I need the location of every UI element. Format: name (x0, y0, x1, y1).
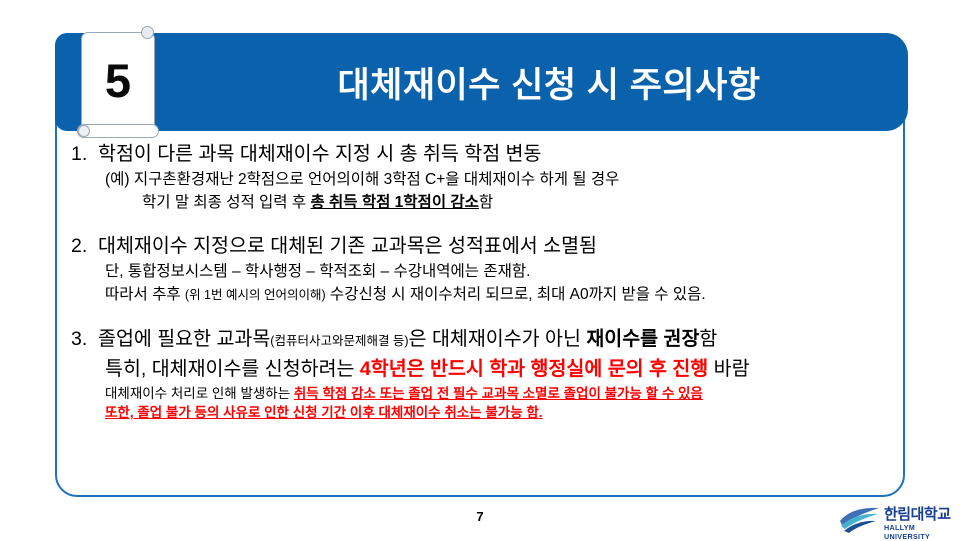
logo-text-block: 한림대학교 HALLYM UNIVERSITY (884, 507, 954, 541)
item-3-warning-2: 또한, 졸업 불가 등의 사유로 인한 신청 기간 이후 대체재이수 취소는 불… (64, 403, 904, 422)
item-3-title: 졸업에 필요한 교과목(컴퓨터사고와문제해결 등)은 대체재이수가 아닌 재이수… (98, 325, 717, 355)
item-1-heading: 1. 학점이 다른 과목 대체재이수 지정 시 총 취득 학점 변동 (64, 140, 904, 168)
spacer-2 (64, 309, 904, 325)
item-3-line-2-suffix: 바람 (708, 358, 749, 380)
item-3-warning-1-prefix: 대체재이수 처리로 인해 발생하는 (105, 386, 294, 401)
page-number: 7 (0, 509, 960, 524)
item-3-title-note: (컴퓨터사고와문제해결 등) (270, 334, 408, 348)
section-number: 5 (81, 32, 155, 128)
item-3-number: 3. (64, 328, 98, 351)
item-3-warning-2-text: 또한, 졸업 불가 등의 사유로 인한 신청 기간 이후 대체재이수 취소는 불… (105, 405, 543, 420)
item-3-title-part-2: 은 대체재이수가 아닌 (409, 328, 587, 350)
item-3-title-emphasis: 재이수를 권장 (586, 328, 699, 350)
list-item: 3. 졸업에 필요한 교과목(컴퓨터사고와문제해결 등)은 대체재이수가 아닌 … (64, 325, 904, 422)
item-2-detail-2-prefix: 따라서 추후 (105, 286, 185, 303)
item-2-heading: 2. 대체재이수 지정으로 대체된 기존 교과목은 성적표에서 소멸됨 (64, 232, 904, 260)
item-3-warning-1: 대체재이수 처리로 인해 발생하는 취득 학점 감소 또는 졸업 전 필수 교과… (64, 384, 904, 403)
notice-list: 1. 학점이 다른 과목 대체재이수 지정 시 총 취득 학점 변동 (예) 지… (64, 140, 904, 424)
item-2-detail-2-suffix: 수강신청 시 재이수처리 되므로, 최대 A0까지 받을 수 있음. (326, 286, 706, 303)
item-2-detail-1-text: 단, 통합정보시스템 – 학사행정 – 학적조회 – 수강내역에는 존재함. (105, 263, 530, 280)
list-item: 2. 대체재이수 지정으로 대체된 기존 교과목은 성적표에서 소멸됨 단, 통… (64, 232, 904, 307)
item-2-title: 대체재이수 지정으로 대체된 기존 교과목은 성적표에서 소멸됨 (98, 232, 597, 260)
item-1-detail-2-emphasis: 총 취득 학점 1학점이 감소 (310, 194, 478, 211)
item-3-warning-1-text: 취득 학점 감소 또는 졸업 전 필수 교과목 소멸로 졸업이 불가능 할 수 … (294, 386, 703, 401)
slide-canvas: 대체재이수 신청 시 주의사항 5 1. 학점이 다른 과목 대체재이수 지정 … (0, 0, 960, 540)
item-1-detail-2-prefix: 학기 말 최종 성적 입력 후 (142, 194, 310, 211)
item-2-detail-2: 따라서 추후 (위 1번 예시의 언어의이해) 수강신청 시 재이수처리 되므로… (64, 283, 904, 307)
section-number-scroll-badge: 5 (75, 26, 161, 140)
item-3-title-part-1: 졸업에 필요한 교과목 (98, 328, 270, 350)
spacer-1 (64, 216, 904, 232)
item-2-detail-1: 단, 통합정보시스템 – 학사행정 – 학적조회 – 수강내역에는 존재함. (64, 260, 904, 283)
item-3-line-2: 특히, 대체재이수를 신청하려는 4학년은 반드시 학과 행정실에 문의 후 진… (64, 355, 904, 384)
item-1-detail-1-text: (예) 지구촌환경재난 2학점으로 언어의이해 3학점 C+을 대체재이수 하게… (105, 171, 619, 188)
item-3-line-2-prefix: 특히, 대체재이수를 신청하려는 (105, 358, 360, 380)
scroll-knob-top-right-icon (141, 26, 154, 39)
logo-english-name: HALLYM UNIVERSITY (884, 523, 954, 541)
item-3-title-part-3: 함 (699, 328, 717, 350)
item-1-detail-2: 학기 말 최종 성적 입력 후 총 취득 학점 1학점이 감소함 (64, 191, 904, 214)
item-1-title: 학점이 다른 과목 대체재이수 지정 시 총 취득 학점 변동 (98, 140, 541, 168)
item-1-number: 1. (64, 143, 98, 166)
item-3-heading: 3. 졸업에 필요한 교과목(컴퓨터사고와문제해결 등)은 대체재이수가 아닌 … (64, 325, 904, 355)
page-title: 대체재이수 신청 시 주의사항 (190, 33, 908, 131)
hallym-university-logo: 한림대학교 HALLYM UNIVERSITY (838, 504, 954, 538)
logo-korean-name: 한림대학교 (884, 507, 954, 523)
item-1-detail-2-suffix: 함 (479, 194, 493, 211)
item-3-line-2-warning: 4학년은 반드시 학과 행정실에 문의 후 진행 (360, 358, 708, 380)
item-2-detail-2-note: (위 1번 예시의 언어의이해) (185, 288, 326, 302)
list-item: 1. 학점이 다른 과목 대체재이수 지정 시 총 취득 학점 변동 (예) 지… (64, 140, 904, 214)
item-1-detail-1: (예) 지구촌환경재난 2학점으로 언어의이해 3학점 C+을 대체재이수 하게… (64, 168, 904, 191)
item-2-number: 2. (64, 235, 98, 258)
scroll-knob-bottom-left-icon (78, 125, 90, 137)
wave-mark-icon (838, 504, 882, 534)
